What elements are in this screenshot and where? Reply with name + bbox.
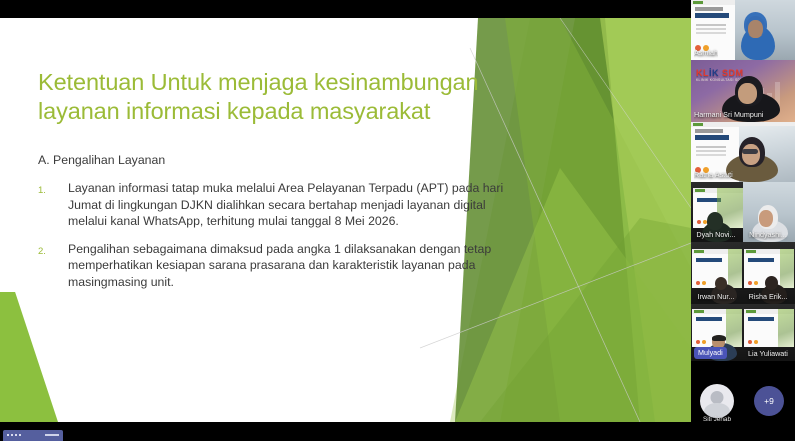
filmstrip-row: Mulyadi Lia Yuliawati: [691, 304, 795, 361]
slide-bullet-item: 1. Layanan informasi tatap muka melalui …: [38, 180, 522, 230]
participant-hijab: [707, 212, 723, 230]
bullet-text: Pengalihan sebagaimana dimaksud pada ang…: [68, 241, 522, 291]
filmstrip-row: Dyah Novi... Nindyashi...: [691, 182, 795, 242]
participant-tile-avatar[interactable]: Siti Jenab: [691, 378, 743, 424]
participant-hair: [712, 335, 726, 341]
participant-name-active: Mulyadi: [694, 347, 727, 359]
filmstrip-row-overflow: Siti Jenab +9: [691, 361, 795, 441]
shared-screen-stage[interactable]: Ketentuan Untuk menjaga kesinambungan la…: [0, 0, 691, 441]
participant-name: Ratna Astuti: [694, 170, 733, 180]
participant-head: [765, 276, 778, 290]
participant-name: Irwan Nur...: [691, 292, 741, 302]
screenshare-thumbnail: [744, 309, 794, 347]
participant-tile[interactable]: Asmiah: [691, 0, 795, 60]
slide-bullet-item: 2. Pengalihan sebagaimana dimaksud pada …: [38, 241, 522, 291]
participant-name: Risha Erik...: [743, 292, 793, 302]
overflow-count-badge[interactable]: +9: [754, 386, 784, 416]
participant-tile[interactable]: Dyah Novi...: [691, 182, 743, 242]
participant-name: Harmani Sri Mumpuni: [694, 110, 764, 120]
participant-tile[interactable]: KLİK SDM KLINIK KONSULTASI SDM Harmani S…: [691, 60, 795, 122]
participant-tile[interactable]: Ratna Astuti: [691, 122, 795, 182]
slide-title: Ketentuan Untuk menjaga kesinambungan la…: [38, 68, 518, 126]
participant-tile[interactable]: Irwan Nur...: [691, 242, 743, 304]
presentation-slide[interactable]: Ketentuan Untuk menjaga kesinambungan la…: [0, 18, 691, 422]
avatar: [700, 384, 734, 418]
klik-djkn-logo: KLİK SDM: [696, 68, 744, 78]
klik-logo-subtitle: KLINIK KONSULTASI SDM: [696, 78, 743, 82]
participant-face: [748, 20, 763, 38]
participant-name: Asmiah: [694, 48, 718, 58]
participant-tile[interactable]: Risha Erik...: [743, 242, 795, 304]
slide-section-label: A. Pengalihan Layanan: [38, 152, 522, 168]
participant-glasses: [742, 149, 758, 154]
zoom-meeting-screenshare-window: Ketentuan Untuk menjaga kesinambungan la…: [0, 0, 795, 441]
participant-name: Lia Yuliawati: [743, 349, 793, 359]
participant-face: [742, 144, 760, 165]
participant-name: Siti Jenab: [691, 416, 743, 423]
participant-name: Nindyashi...: [743, 230, 793, 240]
participant-head: [715, 277, 727, 290]
more-participants-cell[interactable]: +9: [743, 378, 795, 424]
bullet-marker: 1.: [38, 180, 68, 230]
participant-name: Dyah Novi...: [691, 230, 741, 240]
bullet-text: Layanan informasi tatap muka melalui Are…: [68, 180, 522, 230]
slide-body: A. Pengalihan Layanan 1. Layanan informa…: [38, 152, 522, 301]
participant-filmstrip[interactable]: Asmiah KLİK SDM KLINIK KONSULTASI SDM Ha…: [691, 0, 795, 441]
taskbar-chip-dots: [7, 434, 23, 436]
taskbar-chip-bar: [45, 434, 59, 436]
participant-tile-active-speaker[interactable]: Mulyadi: [691, 304, 743, 361]
filmstrip-row: Asmiah: [691, 0, 795, 60]
participant-tile[interactable]: Lia Yuliawati: [743, 304, 795, 361]
participant-tile[interactable]: Nindyashi...: [743, 182, 795, 242]
bullet-marker: 2.: [38, 241, 68, 291]
participant-face: [738, 83, 757, 104]
filmstrip-row: KLİK SDM KLINIK KONSULTASI SDM Harmani S…: [691, 60, 795, 122]
taskbar-window-chip[interactable]: [3, 430, 63, 441]
participant-face: [759, 210, 773, 227]
filmstrip-row: Ratna Astuti: [691, 122, 795, 182]
filmstrip-row: Irwan Nur... Risha Erik...: [691, 242, 795, 304]
